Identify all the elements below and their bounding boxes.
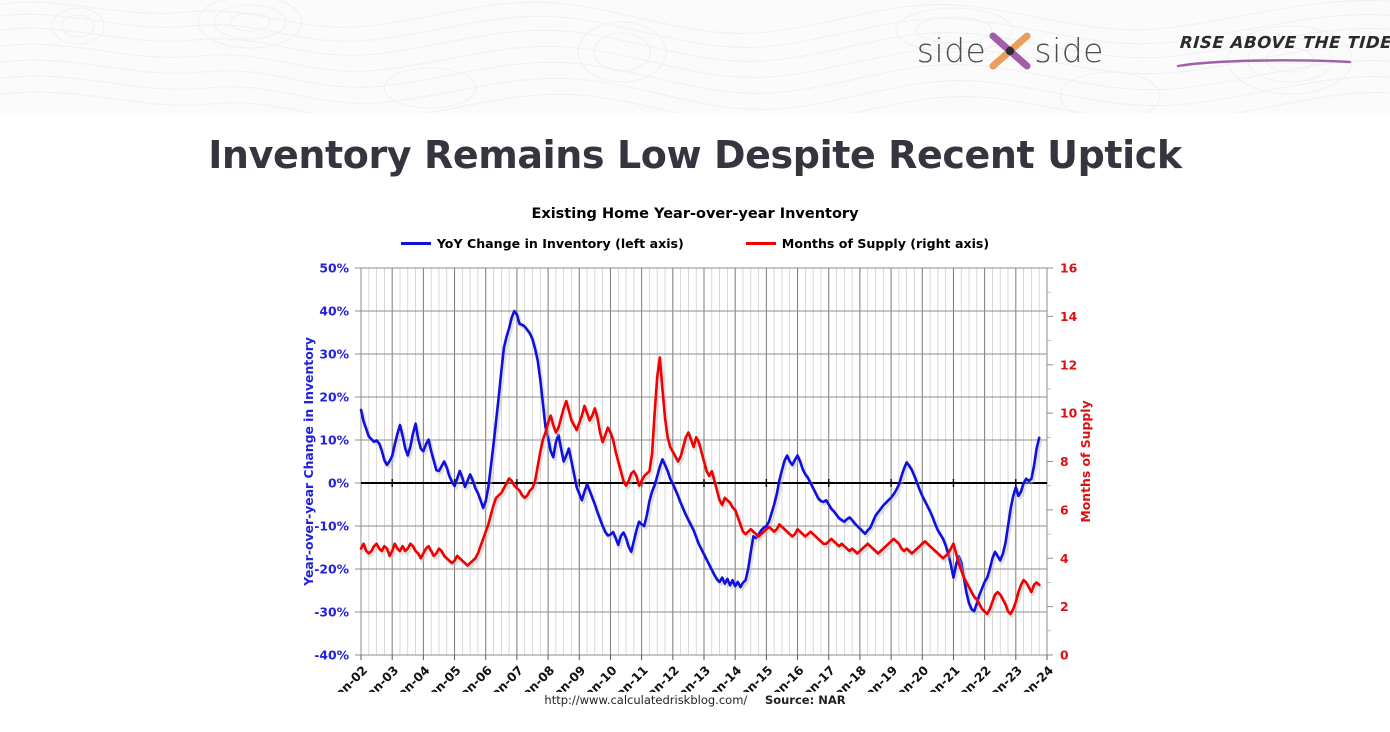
y2-axis-tick-label: 8 <box>1060 454 1069 469</box>
y2-axis-tick-label: 2 <box>1060 599 1069 614</box>
x-axis-tick-label: Jan-22 <box>952 663 993 692</box>
header-band: side side RISE ABOVE THE TIDE <box>0 0 1390 113</box>
x-axis-tick-label: Jan-08 <box>516 663 557 692</box>
x-axis-tick-label: Jan-14 <box>703 663 744 692</box>
x-axis-tick-label: Jan-09 <box>547 663 588 692</box>
legend-item-supply: Months of Supply (right axis) <box>746 236 989 251</box>
y-axis-tick-label: 0% <box>328 476 350 491</box>
chart-legend: YoY Change in Inventory (left axis) Mont… <box>0 236 1390 251</box>
x-axis-tick-label: Jan-11 <box>609 663 650 692</box>
x-axis-tick-label: Jan-06 <box>454 663 495 692</box>
x-axis-tick-label: Jan-13 <box>672 663 713 692</box>
page-title: Inventory Remains Low Despite Recent Upt… <box>0 133 1390 177</box>
tagline-underline-icon <box>1174 57 1359 71</box>
x-axis-tick-label: Jan-04 <box>391 663 432 692</box>
x-axis-tick-label: Jan-18 <box>828 663 869 692</box>
y-axis-tick-label: 50% <box>319 261 349 276</box>
x-logo-icon <box>988 30 1032 70</box>
x-axis-tick-label: Jan-15 <box>734 663 775 692</box>
x-axis-tick-label: Jan-02 <box>329 663 370 692</box>
y-axis-tick-label: -30% <box>314 605 349 620</box>
y2-axis-tick-label: 6 <box>1060 502 1069 517</box>
legend-label-inventory: YoY Change in Inventory (left axis) <box>437 236 684 251</box>
legend-swatch-blue <box>401 242 431 246</box>
y-axis-tick-label: -40% <box>314 648 349 663</box>
chart-footnote: http://www.calculatedriskblog.com/ Sourc… <box>0 693 1390 707</box>
y-axis-tick-label: -20% <box>314 562 349 577</box>
x-axis-tick-label: Jan-24 <box>1015 663 1056 692</box>
y2-axis-tick-label: 0 <box>1060 648 1069 663</box>
legend-item-inventory: YoY Change in Inventory (left axis) <box>401 236 684 251</box>
x-axis-tick-label: Jan-20 <box>890 663 931 692</box>
y2-axis-title: Months of Supply <box>1078 400 1093 522</box>
y-axis-tick-label: 20% <box>319 390 349 405</box>
x-axis-tick-label: Jan-03 <box>360 663 401 692</box>
brand-word-right: side <box>1034 31 1104 70</box>
x-axis-tick-label: Jan-12 <box>641 663 682 692</box>
x-axis-tick-label: Jan-05 <box>422 663 463 692</box>
y2-axis-tick-label: 12 <box>1060 357 1077 372</box>
y2-axis-tick-label: 16 <box>1060 261 1077 276</box>
chart-container: Existing Home Year-over-year Inventory Y… <box>0 200 1390 730</box>
y-axis-tick-label: 40% <box>319 304 349 319</box>
x-axis-tick-label: Jan-23 <box>984 663 1025 692</box>
brand-tagline: RISE ABOVE THE TIDE <box>1180 33 1365 79</box>
x-axis-tick-label: Jan-10 <box>578 663 619 692</box>
x-axis-tick-label: Jan-17 <box>797 663 838 692</box>
chart-title: Existing Home Year-over-year Inventory <box>0 206 1390 222</box>
brand-word-left: side <box>917 31 987 70</box>
chart-plot-area: 50%40%30%20%10%0%-10%-20%-30%-40%1614121… <box>0 252 1390 692</box>
x-axis-tick-label: Jan-16 <box>765 663 806 692</box>
x-axis-tick-label: Jan-19 <box>859 663 900 692</box>
source-label: Source: NAR <box>765 693 846 707</box>
tagline-text: RISE ABOVE THE TIDE <box>1179 33 1365 52</box>
brand-logo: side side <box>917 30 1104 70</box>
source-url: http://www.calculatedriskblog.com/ <box>544 693 747 707</box>
y2-axis-tick-label: 14 <box>1060 309 1078 324</box>
y-axis-tick-label: 30% <box>319 347 349 362</box>
legend-label-supply: Months of Supply (right axis) <box>782 236 989 251</box>
legend-swatch-red <box>746 242 776 246</box>
x-axis-tick-label: Jan-21 <box>921 663 962 692</box>
x-axis-tick-label: Jan-07 <box>485 663 526 692</box>
y-axis-title: Year-over-year Change in Inventory <box>301 337 316 587</box>
y2-axis-tick-label: 4 <box>1060 551 1069 566</box>
y2-axis-tick-label: 10 <box>1060 406 1078 421</box>
y-axis-tick-label: -10% <box>314 519 349 534</box>
y-axis-tick-label: 10% <box>319 433 349 448</box>
